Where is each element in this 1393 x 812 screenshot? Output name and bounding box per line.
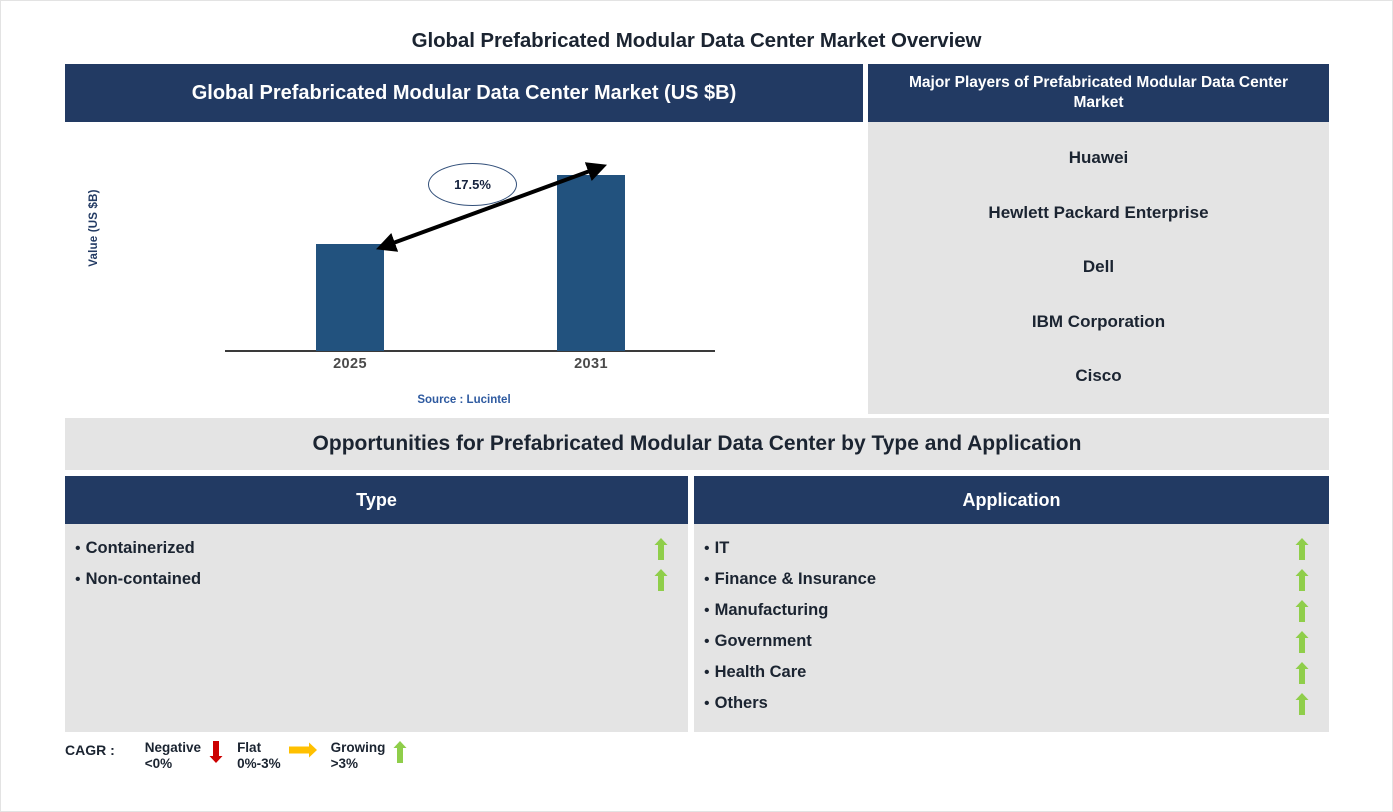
bar-2025	[316, 244, 384, 351]
opportunity-label: Non-contained	[86, 570, 654, 589]
cagr-legend: CAGR : Negative <0% Flat 0%-3%	[65, 740, 665, 788]
arrow-right-amber-icon-wrap	[289, 740, 317, 759]
bullet-icon: •	[704, 541, 710, 557]
arrow-up-green-icon	[1295, 662, 1309, 684]
arrow-right-amber-icon	[289, 741, 317, 759]
column-header-type: Type	[65, 476, 688, 524]
arrow-down-red-icon	[209, 741, 223, 763]
page-title: Global Prefabricated Modular Data Center…	[1, 29, 1392, 53]
legend-negative-text: Negative <0%	[145, 740, 201, 772]
column-body-application: • IT • Finance & Insurance • Manufacturi…	[694, 524, 1329, 732]
legend-growing-name: Growing	[331, 740, 386, 756]
bar-label-2031: 2031	[531, 356, 651, 372]
opportunity-label: IT	[715, 539, 1295, 558]
market-bar-chart: Value (US $B) 2025 2031 17.5% Source : L…	[65, 122, 863, 414]
bullet-icon: •	[704, 665, 710, 681]
bullet-icon: •	[704, 634, 710, 650]
opportunity-label: Finance & Insurance	[715, 570, 1295, 589]
arrow-up-green-icon	[654, 569, 668, 591]
list-item: Hewlett Packard Enterprise	[868, 203, 1329, 223]
list-item: • Finance & Insurance	[694, 564, 1329, 595]
chart-panel-header: Global Prefabricated Modular Data Center…	[65, 64, 863, 122]
chart-y-axis-label: Value (US $B)	[88, 163, 100, 293]
list-item: • Non-contained	[65, 564, 688, 595]
legend-flat-range: 0%-3%	[237, 756, 281, 772]
arrow-up-green-icon-wrap	[393, 740, 407, 763]
column-header-application: Application	[694, 476, 1329, 524]
opportunity-label: Government	[715, 632, 1295, 651]
legend-negative-name: Negative	[145, 740, 201, 756]
arrow-up-green-icon	[1295, 693, 1309, 715]
arrow-up-green-icon	[1295, 600, 1309, 622]
column-body-type: • Containerized • Non-contained	[65, 524, 688, 732]
legend-growing-text: Growing >3%	[331, 740, 386, 772]
chart-x-axis	[225, 350, 715, 352]
legend-growing-range: >3%	[331, 756, 386, 772]
legend-entry-flat: Flat 0%-3%	[237, 740, 325, 772]
arrow-up-green-icon	[1295, 569, 1309, 591]
list-item: • Manufacturing	[694, 595, 1329, 626]
list-item: • Containerized	[65, 533, 688, 564]
players-panel-header: Major Players of Prefabricated Modular D…	[868, 64, 1329, 122]
cagr-bubble: 17.5%	[428, 163, 517, 206]
opportunities-band-title: Opportunities for Prefabricated Modular …	[65, 418, 1329, 470]
bullet-icon: •	[704, 696, 710, 712]
bar-label-2025: 2025	[290, 356, 410, 372]
list-item: Huawei	[868, 148, 1329, 168]
list-item: IBM Corporation	[868, 312, 1329, 332]
arrow-down-red-icon-wrap	[209, 740, 223, 763]
bullet-icon: •	[704, 572, 710, 588]
list-item: • Government	[694, 626, 1329, 657]
opportunity-label: Others	[715, 694, 1295, 713]
bullet-icon: •	[75, 541, 81, 557]
arrow-up-green-icon	[1295, 538, 1309, 560]
arrow-up-green-icon	[393, 741, 407, 763]
legend-entry-negative: Negative <0%	[145, 740, 231, 772]
cagr-legend-title: CAGR :	[65, 740, 115, 758]
opportunity-label: Health Care	[715, 663, 1295, 682]
infographic-page: Global Prefabricated Modular Data Center…	[1, 1, 1392, 811]
arrow-up-green-icon	[654, 538, 668, 560]
players-list: Huawei Hewlett Packard Enterprise Dell I…	[868, 122, 1329, 414]
legend-entry-growing: Growing >3%	[331, 740, 416, 772]
list-item: • IT	[694, 533, 1329, 564]
bullet-icon: •	[704, 603, 710, 619]
chart-source-note: Source : Lucintel	[65, 394, 863, 406]
bullet-icon: •	[75, 572, 81, 588]
list-item: • Health Care	[694, 657, 1329, 688]
legend-flat-text: Flat 0%-3%	[237, 740, 281, 772]
list-item: Dell	[868, 257, 1329, 277]
legend-flat-name: Flat	[237, 740, 281, 756]
list-item: • Others	[694, 688, 1329, 719]
list-item: Cisco	[868, 366, 1329, 386]
opportunity-label: Containerized	[86, 539, 654, 558]
opportunity-label: Manufacturing	[715, 601, 1295, 620]
legend-negative-range: <0%	[145, 756, 201, 772]
arrow-up-green-icon	[1295, 631, 1309, 653]
bar-2031	[557, 175, 625, 351]
